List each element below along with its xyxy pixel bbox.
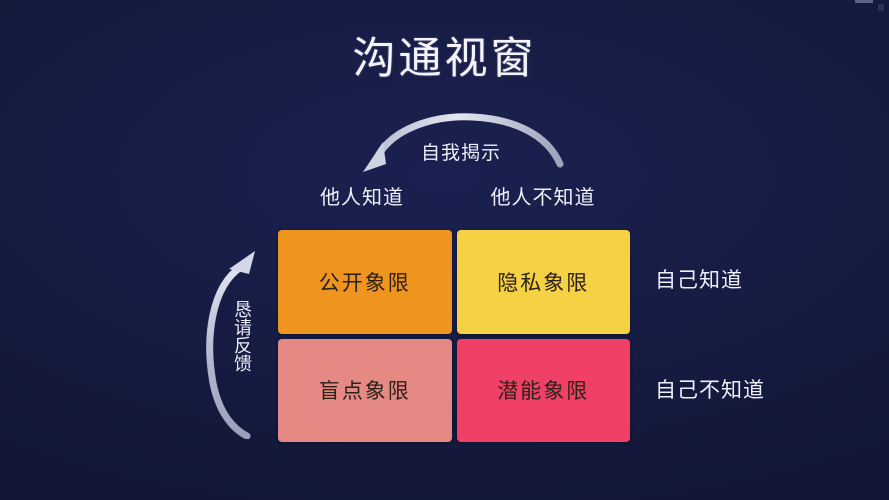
slide-canvas: 沟通视窗 自我揭示 bbox=[0, 0, 889, 500]
quadrant-private[interactable]: 隐私象限 bbox=[457, 230, 631, 334]
left-arrow-label: 恳请反馈 bbox=[228, 300, 252, 372]
screen-artifact-dot bbox=[878, 4, 884, 11]
quadrant-open-label: 公开象限 bbox=[319, 267, 411, 297]
quadrant-potential-label: 潜能象限 bbox=[497, 375, 589, 405]
johari-window-grid: 公开象限 隐私象限 盲点象限 潜能象限 bbox=[278, 230, 630, 442]
row-label-self-unknown: 自己不知道 bbox=[655, 377, 765, 405]
column-header-others-unknown: 他人不知道 bbox=[456, 185, 630, 211]
quadrant-blind-label: 盲点象限 bbox=[319, 375, 411, 405]
top-arrow-label: 自我揭示 bbox=[401, 142, 521, 166]
row-label-self-know: 自己知道 bbox=[655, 267, 743, 295]
quadrant-potential[interactable]: 潜能象限 bbox=[457, 339, 631, 443]
page-title: 沟通视窗 bbox=[0, 34, 889, 84]
column-header-others-know: 他人知道 bbox=[278, 185, 446, 211]
quadrant-private-label: 隐私象限 bbox=[497, 267, 589, 297]
quadrant-blind[interactable]: 盲点象限 bbox=[278, 339, 452, 443]
quadrant-open[interactable]: 公开象限 bbox=[278, 230, 452, 334]
screen-artifact-bar bbox=[855, 0, 873, 3]
